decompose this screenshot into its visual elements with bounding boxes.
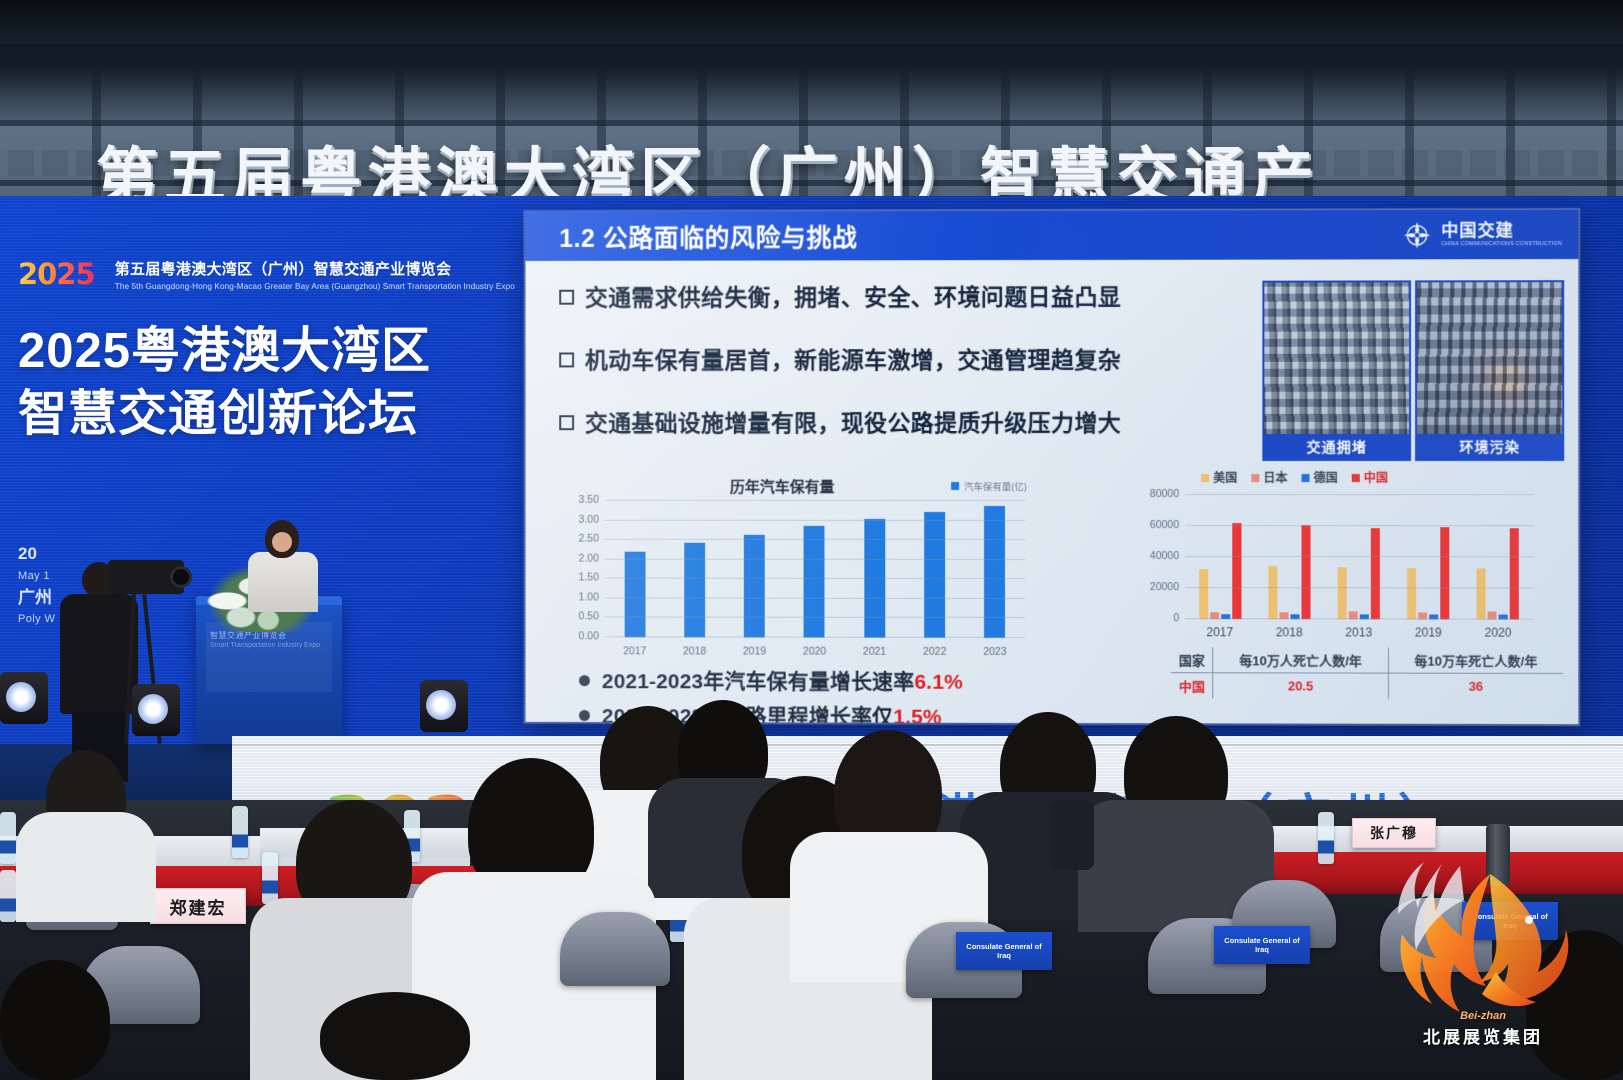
chart-bar [1407, 568, 1416, 620]
legend-item: 美国 [1201, 469, 1237, 486]
chart-legend: 美国日本德国中国 [1201, 469, 1388, 486]
chart-y-tick-label: 0 [1173, 612, 1179, 624]
slide-bullet-item: 交通基础设施增量有限，现役公路提质升级压力增大 [559, 408, 1247, 437]
chart-y-tick-label: 2.50 [579, 533, 599, 545]
chart-bar [684, 543, 705, 638]
chart-x-tick-label: 2013 [1329, 625, 1388, 639]
chart-y-tick-label: 1.50 [579, 572, 599, 584]
chart-bar [1510, 528, 1519, 620]
checkbox-icon [559, 290, 574, 305]
legend-label: 中国 [1364, 469, 1388, 486]
chart-traffic-deaths: 美国日本德国中国 020000400006000080000 201720182… [1123, 473, 1535, 644]
water-bottle [1318, 812, 1334, 864]
chart-x-tick-label: 2017 [1190, 625, 1249, 639]
conference-photo: 第五届粤港澳大湾区（广州）智慧交通产 2025 第五届粤港澳大湾区（广州）智慧交… [0, 0, 1623, 1080]
chart-gridline: 80000 [1185, 494, 1533, 495]
presentation-slide: 1.2 公路面临的风险与挑战 中国交建 CHINA COMMUNICATIONS… [526, 210, 1579, 724]
raised-phone [1050, 800, 1094, 870]
hall-ceiling [0, 0, 1623, 44]
chart-gridline: 3.50 [605, 500, 1025, 501]
chart-bar [1268, 567, 1277, 620]
chart-bar [1199, 570, 1208, 620]
camera-lens-icon [170, 566, 192, 588]
chart-x-tick-label: 2022 [907, 646, 962, 658]
chart-bar [924, 512, 945, 638]
table-header-cell: 国家 [1171, 647, 1213, 673]
photo-pollution: 环境污染 [1415, 280, 1564, 461]
legend-swatch [1352, 474, 1360, 482]
table-cell: 36 [1388, 673, 1563, 699]
water-bottle [262, 852, 278, 904]
chart-bar [1338, 567, 1347, 619]
forum-headline-line1: 2025粤港澳大湾区 [18, 324, 431, 378]
legend-swatch [1251, 474, 1259, 482]
chart-title: 历年汽车保有量 [730, 476, 835, 497]
chart-x-tick-label: 2023 [967, 646, 1022, 658]
chart-y-tick-label: 0.50 [579, 611, 599, 623]
chart-legend: 汽车保有量(亿) [951, 479, 1027, 493]
legend-label: 日本 [1263, 469, 1287, 486]
table-header-row: 国家每10万人死亡人数/年每10万车死亡人数/年 [1171, 647, 1563, 673]
bullet-text: 交通需求供给失衡，拥堵、安全、环境问题日益凸显 [585, 283, 1121, 312]
chart-x-tick-label: 2018 [1260, 625, 1319, 639]
chart-y-tick-label: 40000 [1150, 550, 1179, 562]
note-highlight: 6.1% [914, 671, 963, 694]
compass-icon [1401, 219, 1433, 251]
legend-label: 德国 [1314, 469, 1338, 486]
legend-swatch [1302, 474, 1310, 482]
checkbox-icon [559, 415, 574, 430]
legend-label: 汽车保有量(亿) [964, 479, 1027, 493]
chart-bar [1440, 527, 1449, 620]
cccc-name-en: CHINA COMMUNICATIONS CONSTRUCTION [1441, 242, 1562, 247]
chart-y-tick-label: 3.50 [579, 494, 599, 506]
chart-bar [624, 552, 645, 638]
bullet-text: 机动车保有量居首，新能源车激增，交通管理趋复杂 [585, 346, 1121, 375]
chart-x-tick-label: 2018 [667, 645, 722, 657]
stage-light-lens [138, 694, 168, 724]
note-body: 2021-2023年汽车保有量增长速率 [602, 670, 915, 694]
table-row: 中国20.536 [1171, 673, 1563, 699]
audience-member [320, 992, 470, 1080]
legend-item: 德国 [1302, 469, 1338, 486]
note-item: 2021-2023年汽车保有量增长速率6.1% [579, 665, 1117, 696]
name-card: 郑建宏 [150, 888, 246, 924]
watermark-name-en: Bei-zhan [1378, 1010, 1588, 1022]
watermark-name-cn: 北展展览集团 [1378, 1023, 1588, 1048]
chart-plot-area: 020000400006000080000 [1185, 495, 1533, 620]
podium-text-en: Smart Transportation Industry Expo [210, 642, 320, 649]
chart-x-tick-label: 2020 [787, 646, 842, 658]
chart-x-tick-label: 2020 [1468, 626, 1527, 640]
chart-y-tick-label: 60000 [1150, 519, 1179, 531]
stage-light-lens [6, 682, 36, 712]
audience-member [0, 960, 110, 1080]
note-text: 2021-2023年汽车保有量增长速率6.1% [602, 665, 963, 696]
chart-gridline: 60000 [1185, 525, 1533, 526]
fatality-table: 国家每10万人死亡人数/年每10万车死亡人数/年 中国20.536 [1171, 647, 1563, 699]
expo-name-en: The 5th Guangdong-Hong Kong-Macao Greate… [115, 282, 515, 291]
legend-item: 中国 [1352, 469, 1388, 486]
speaker-face [272, 532, 292, 552]
chart-y-tick-label: 0.00 [579, 630, 599, 642]
table-header-cell: 每10万人死亡人数/年 [1213, 647, 1388, 673]
bullet-text: 交通基础设施增量有限，现役公路提质升级压力增大 [585, 408, 1121, 437]
chart-bar [1301, 525, 1310, 619]
chart-x-axis-labels: 2017201820192020202120222023 [605, 645, 1025, 658]
photo-caption: 交通拥堵 [1264, 434, 1409, 459]
checkbox-icon [559, 352, 574, 367]
table-body: 中国20.536 [1171, 673, 1563, 699]
chart-y-tick-label: 80000 [1150, 488, 1179, 500]
photo-traffic-jam: 交通拥堵 [1262, 280, 1411, 461]
chart-x-tick-label: 2021 [847, 646, 902, 658]
note-highlight: 1.5% [893, 706, 942, 725]
chart-x-tick-label: 2019 [727, 645, 782, 657]
expo-name-cn: 第五届粤港澳大湾区（广州）智慧交通产业博览会 [115, 258, 515, 279]
chair [560, 912, 670, 986]
chart-plot-area: 0.000.501.001.502.002.503.003.50 [605, 501, 1025, 638]
name-card: 张广穆 [1352, 818, 1436, 848]
chart-x-axis-labels: 20172018201320192020 [1185, 625, 1533, 640]
slide-title: 1.2 公路面临的风险与挑战 [559, 218, 857, 254]
chart-x-tick-label: 2019 [1399, 625, 1458, 639]
table-cell: 中国 [1171, 673, 1213, 699]
water-bottle [232, 806, 248, 858]
branding-header: 2025 第五届粤港澳大湾区（广州）智慧交通产业博览会 The 5th Guan… [18, 254, 490, 294]
led-panel-seam [232, 744, 1623, 746]
forum-headline-line2: 智慧交通创新论坛 [18, 383, 490, 446]
chart-y-tick-label: 20000 [1150, 581, 1179, 593]
chart-gridline: 0.00 [605, 636, 1025, 638]
speaker-body [248, 552, 318, 612]
water-bottle [0, 870, 16, 922]
chart-vehicle-ownership: 历年汽车保有量 汽车保有量(亿) 0.000.501.001.502.002.5… [561, 479, 1029, 664]
chart-bar [1232, 523, 1241, 619]
cccc-name-cn: 中国交建 [1441, 222, 1562, 239]
water-bottle [0, 812, 16, 864]
bullet-dot-icon [579, 710, 590, 721]
chart-y-tick-label: 3.00 [579, 513, 599, 525]
chart-y-tick-label: 1.00 [579, 591, 599, 603]
photo-caption: 环境污染 [1417, 434, 1562, 459]
slide-bullet-item: 交通需求供给失衡，拥堵、安全、环境问题日益凸显 [559, 283, 1247, 313]
pollution-image [1417, 282, 1562, 459]
table-cell: 20.5 [1213, 673, 1388, 699]
watermark: Bei-zhan 北展展览集团 [1378, 852, 1588, 1052]
chart-bar [744, 535, 765, 637]
legend-swatch [1201, 474, 1209, 482]
chart-gridline: 0 [1185, 618, 1533, 619]
legend-swatch [951, 482, 959, 490]
slide-bullet-item: 机动车保有量居首，新能源车激增，交通管理趋复杂 [559, 346, 1247, 375]
delegation-tent-card: Consulate General of Iraq [956, 932, 1052, 970]
audience-member-body [16, 812, 156, 922]
chart-y-tick-label: 2.00 [579, 552, 599, 564]
chart-gridline: 3.00 [605, 519, 1025, 520]
legend-label: 美国 [1213, 469, 1237, 486]
chart-bar [804, 526, 825, 637]
slide-photo-pair: 交通拥堵 环境污染 [1262, 280, 1564, 461]
forum-headline: 2025粤港澳大湾区 智慧交通创新论坛 [18, 320, 490, 445]
table-header-cell: 每10万车死亡人数/年 [1388, 648, 1563, 674]
cccc-logo: 中国交建 CHINA COMMUNICATIONS CONSTRUCTION [1401, 218, 1562, 250]
bullet-dot-icon [579, 675, 590, 686]
traffic-jam-image [1264, 282, 1409, 459]
slide-bullet-list: 交通需求供给失衡，拥堵、安全、环境问题日益凸显 机动车保有量居首，新能源车激增，… [559, 283, 1247, 472]
chart-bar [1371, 528, 1380, 620]
delegation-tent-card: Consulate General of Iraq [1214, 926, 1310, 964]
chart-x-tick-label: 2017 [607, 645, 661, 657]
chart-bar [1477, 568, 1486, 619]
slide-header: 1.2 公路面临的风险与挑战 中国交建 CHINA COMMUNICATIONS… [526, 210, 1579, 261]
expo-year-logo: 2025 [18, 260, 95, 289]
stage-light-lens [426, 690, 456, 720]
legend-item: 日本 [1251, 469, 1287, 486]
